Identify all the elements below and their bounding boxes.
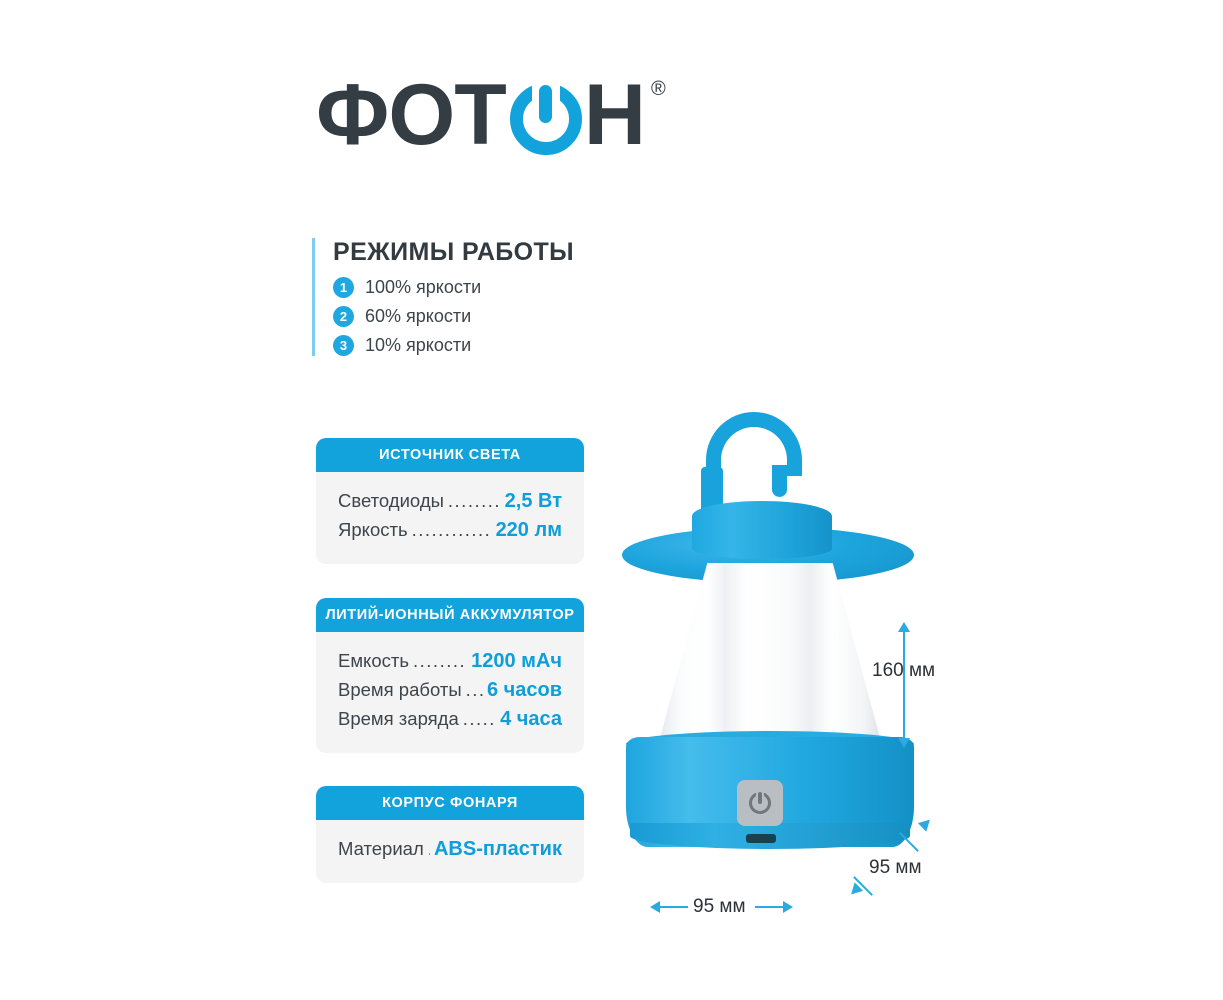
product-image-lantern: [600, 405, 940, 885]
spec-card-housing: КОРПУС ФОНАРЯ Материал ... ABS-пластик: [316, 786, 584, 883]
list-item: 2 60% яркости: [333, 306, 612, 327]
spec-row: Время работы .... 6 часов: [338, 679, 562, 702]
operating-modes-section: РЕЖИМЫ РАБОТЫ 1 100% яркости 2 60% яркос…: [312, 238, 612, 356]
spec-value: 1200 мАч: [471, 650, 562, 673]
spec-row: Светодиоды ........... 2,5 Вт: [338, 490, 562, 513]
lantern-cap: [692, 501, 832, 559]
logo-letter-f: Ф: [316, 72, 388, 158]
card-title: ЛИТИЙ-ИОННЫЙ АККУМУЛЯТОР: [316, 598, 584, 632]
dot-leader: ...: [428, 838, 430, 860]
spec-label: Емкость: [338, 650, 409, 672]
logo-letters-ot: ОТ: [388, 72, 505, 158]
brand-logo: Ф ОТ Н ®: [316, 72, 666, 158]
width-dimension-line-left: [660, 906, 688, 908]
mode-label: 60% яркости: [365, 306, 471, 327]
spec-row: Емкость ............ 1200 мАч: [338, 650, 562, 673]
mode-number-badge: 2: [333, 306, 354, 327]
spec-card-light-source: ИСТОЧНИК СВЕТА Светодиоды ........... 2,…: [316, 438, 584, 564]
dot-leader: ..............: [412, 519, 492, 541]
spec-value: 220 лм: [496, 519, 562, 542]
logo-letter-n: Н: [584, 72, 645, 158]
dimension-label-width: 95 мм: [693, 896, 746, 918]
spec-row: Время заряда ....... 4 часа: [338, 708, 562, 731]
brand-wordmark: Ф ОТ Н: [316, 72, 645, 158]
dimension-label-height: 160 мм: [872, 660, 935, 682]
mode-number-badge: 3: [333, 335, 354, 356]
section-title-modes: РЕЖИМЫ РАБОТЫ: [333, 238, 612, 267]
power-icon: [510, 83, 582, 155]
power-button[interactable]: [737, 780, 783, 826]
spec-row: Яркость .............. 220 лм: [338, 519, 562, 542]
micro-usb-port-icon: [746, 834, 776, 843]
power-icon: [749, 792, 771, 814]
card-body: Светодиоды ........... 2,5 Вт Яркость ..…: [316, 472, 584, 564]
mode-label: 100% яркости: [365, 277, 481, 298]
spec-value: 6 часов: [487, 679, 562, 702]
arrow-up-icon: [898, 622, 910, 632]
spec-value: 2,5 Вт: [505, 490, 562, 513]
dot-leader: .......: [463, 708, 496, 730]
spec-value: ABS-пластик: [434, 838, 562, 861]
list-item: 3 10% яркости: [333, 335, 612, 356]
registered-trademark-icon: ®: [651, 78, 666, 101]
spec-label: Материал: [338, 838, 424, 860]
spec-row: Материал ... ABS-пластик: [338, 838, 562, 861]
hook-tail: [772, 465, 787, 497]
mode-number-badge: 1: [333, 277, 354, 298]
spec-label: Время работы: [338, 679, 462, 701]
width-dimension-line-right: [755, 906, 783, 908]
arrow-right-icon: [783, 901, 793, 913]
card-title: ИСТОЧНИК СВЕТА: [316, 438, 584, 472]
arrow-down-icon: [898, 738, 910, 748]
dimension-label-depth: 95 мм: [869, 857, 922, 879]
card-title: КОРПУС ФОНАРЯ: [316, 786, 584, 820]
dot-leader: ....: [466, 679, 483, 701]
card-body: Материал ... ABS-пластик: [316, 820, 584, 883]
arrow-left-icon: [650, 901, 660, 913]
spec-label: Светодиоды: [338, 490, 444, 512]
height-dimension-line: [903, 630, 905, 740]
list-item: 1 100% яркости: [333, 277, 612, 298]
spec-value: 4 часа: [500, 708, 562, 731]
dot-leader: ...........: [448, 490, 501, 512]
spec-card-battery: ЛИТИЙ-ИОННЫЙ АККУМУЛЯТОР Емкость .......…: [316, 598, 584, 753]
spec-label: Яркость: [338, 519, 408, 541]
spec-label: Время заряда: [338, 708, 459, 730]
card-body: Емкость ............ 1200 мАч Время рабо…: [316, 632, 584, 753]
lantern-diffuser: [658, 563, 882, 745]
mode-label: 10% яркости: [365, 335, 471, 356]
dot-leader: ............: [413, 650, 467, 672]
